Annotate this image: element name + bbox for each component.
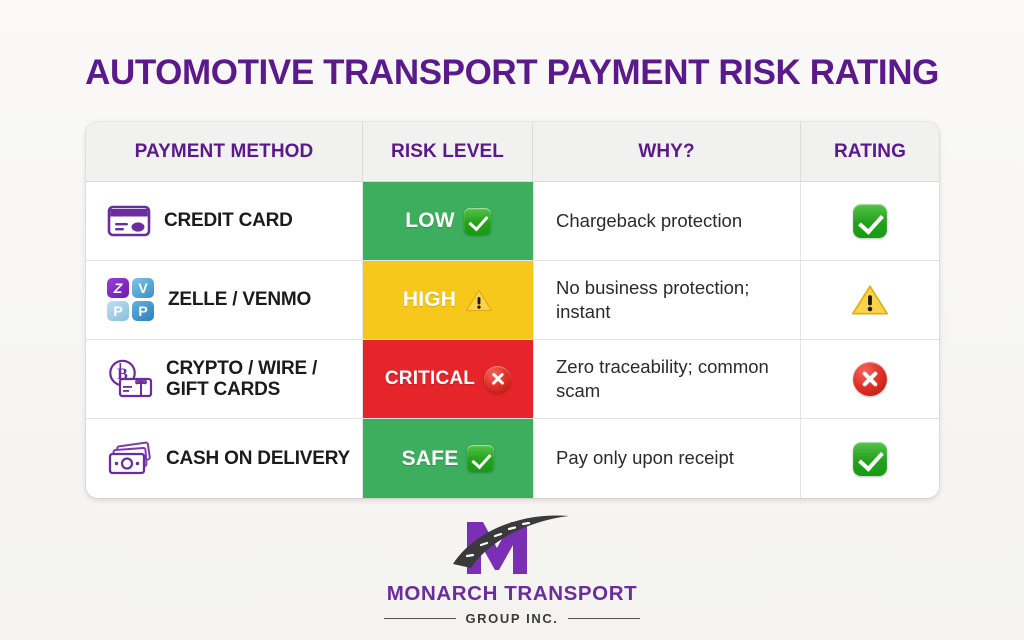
page-title: AUTOMOTIVE TRANSPORT PAYMENT RISK RATING [0, 53, 1024, 93]
cell-rating [801, 419, 939, 498]
cell-rating [801, 340, 939, 418]
cell-risk-level: LOW [363, 182, 533, 260]
cell-why: Chargeback protection [533, 182, 801, 260]
column-header-payment-method: PAYMENT METHOD [86, 122, 363, 181]
table-row: B CRYPTO / WIRE / GIFT CARDS CRITICAL Ze… [86, 340, 939, 419]
cell-payment-method: Z V P P ZELLE / VENMO [86, 261, 363, 339]
company-name: MONARCH TRANSPORT [0, 582, 1024, 606]
credit-card-icon [107, 204, 151, 238]
cell-payment-method: CASH ON DELIVERY [86, 419, 363, 498]
warning-triangle-icon [465, 288, 493, 313]
payment-method-label: CASH ON DELIVERY [166, 448, 350, 469]
footer-logo: MONARCH TRANSPORT GROUP INC. [0, 512, 1024, 626]
infographic-page: AUTOMOTIVE TRANSPORT PAYMENT RISK RATING… [0, 0, 1024, 640]
table-header-row: PAYMENT METHOD RISK LEVEL WHY? RATING [86, 122, 939, 182]
company-suffix: GROUP INC. [465, 611, 558, 626]
divider-right [568, 618, 640, 620]
column-header-rating: RATING [801, 122, 939, 181]
check-mark-button-icon [464, 208, 491, 235]
table-row: CASH ON DELIVERY SAFE Pay only upon rece… [86, 419, 939, 498]
warning-triangle-icon [851, 283, 889, 317]
table-row: Z V P P ZELLE / VENMO HIGH No business p… [86, 261, 939, 340]
risk-level-label: CRITICAL [385, 368, 475, 390]
cell-why: Pay only upon receipt [533, 419, 801, 498]
divider-left [384, 618, 456, 620]
cell-why: No business protection; instant [533, 261, 801, 339]
cell-risk-level: CRITICAL [363, 340, 533, 418]
column-header-why: WHY? [533, 122, 801, 181]
check-mark-button-icon [467, 445, 494, 472]
cell-payment-method: CREDIT CARD [86, 182, 363, 260]
monarch-m-road-logo [437, 512, 587, 578]
venmo-tile-icon: V [132, 278, 154, 298]
cell-rating [801, 182, 939, 260]
paypal-light-tile-icon: P [107, 301, 129, 321]
cash-banknotes-icon [107, 440, 153, 478]
payment-method-label: CRYPTO / WIRE / GIFT CARDS [166, 358, 362, 401]
cell-payment-method: B CRYPTO / WIRE / GIFT CARDS [86, 340, 363, 418]
risk-rating-table: PAYMENT METHOD RISK LEVEL WHY? RATING CR… [86, 122, 939, 498]
zelle-venmo-apps-icon: Z V P P [107, 278, 155, 322]
column-header-risk-level: RISK LEVEL [363, 122, 533, 181]
cross-mark-circle-icon [484, 366, 511, 393]
cell-risk-level: SAFE [363, 419, 533, 498]
payment-method-label: ZELLE / VENMO [168, 289, 311, 310]
check-mark-button-icon [853, 204, 887, 238]
cell-rating [801, 261, 939, 339]
payment-method-label: CREDIT CARD [164, 210, 293, 231]
crypto-gift-card-icon: B [107, 359, 153, 399]
cell-why: Zero traceability; common scam [533, 340, 801, 418]
risk-level-label: HIGH [403, 288, 456, 312]
table-row: CREDIT CARD LOW Chargeback protection [86, 182, 939, 261]
zelle-tile-icon: Z [107, 278, 129, 298]
paypal-tile-icon: P [132, 301, 154, 321]
cell-risk-level: HIGH [363, 261, 533, 339]
risk-level-label: SAFE [402, 447, 459, 471]
risk-level-label: LOW [405, 209, 455, 233]
company-suffix-row: GROUP INC. [0, 611, 1024, 626]
check-mark-button-icon [853, 442, 887, 476]
cross-mark-circle-icon [853, 362, 887, 396]
